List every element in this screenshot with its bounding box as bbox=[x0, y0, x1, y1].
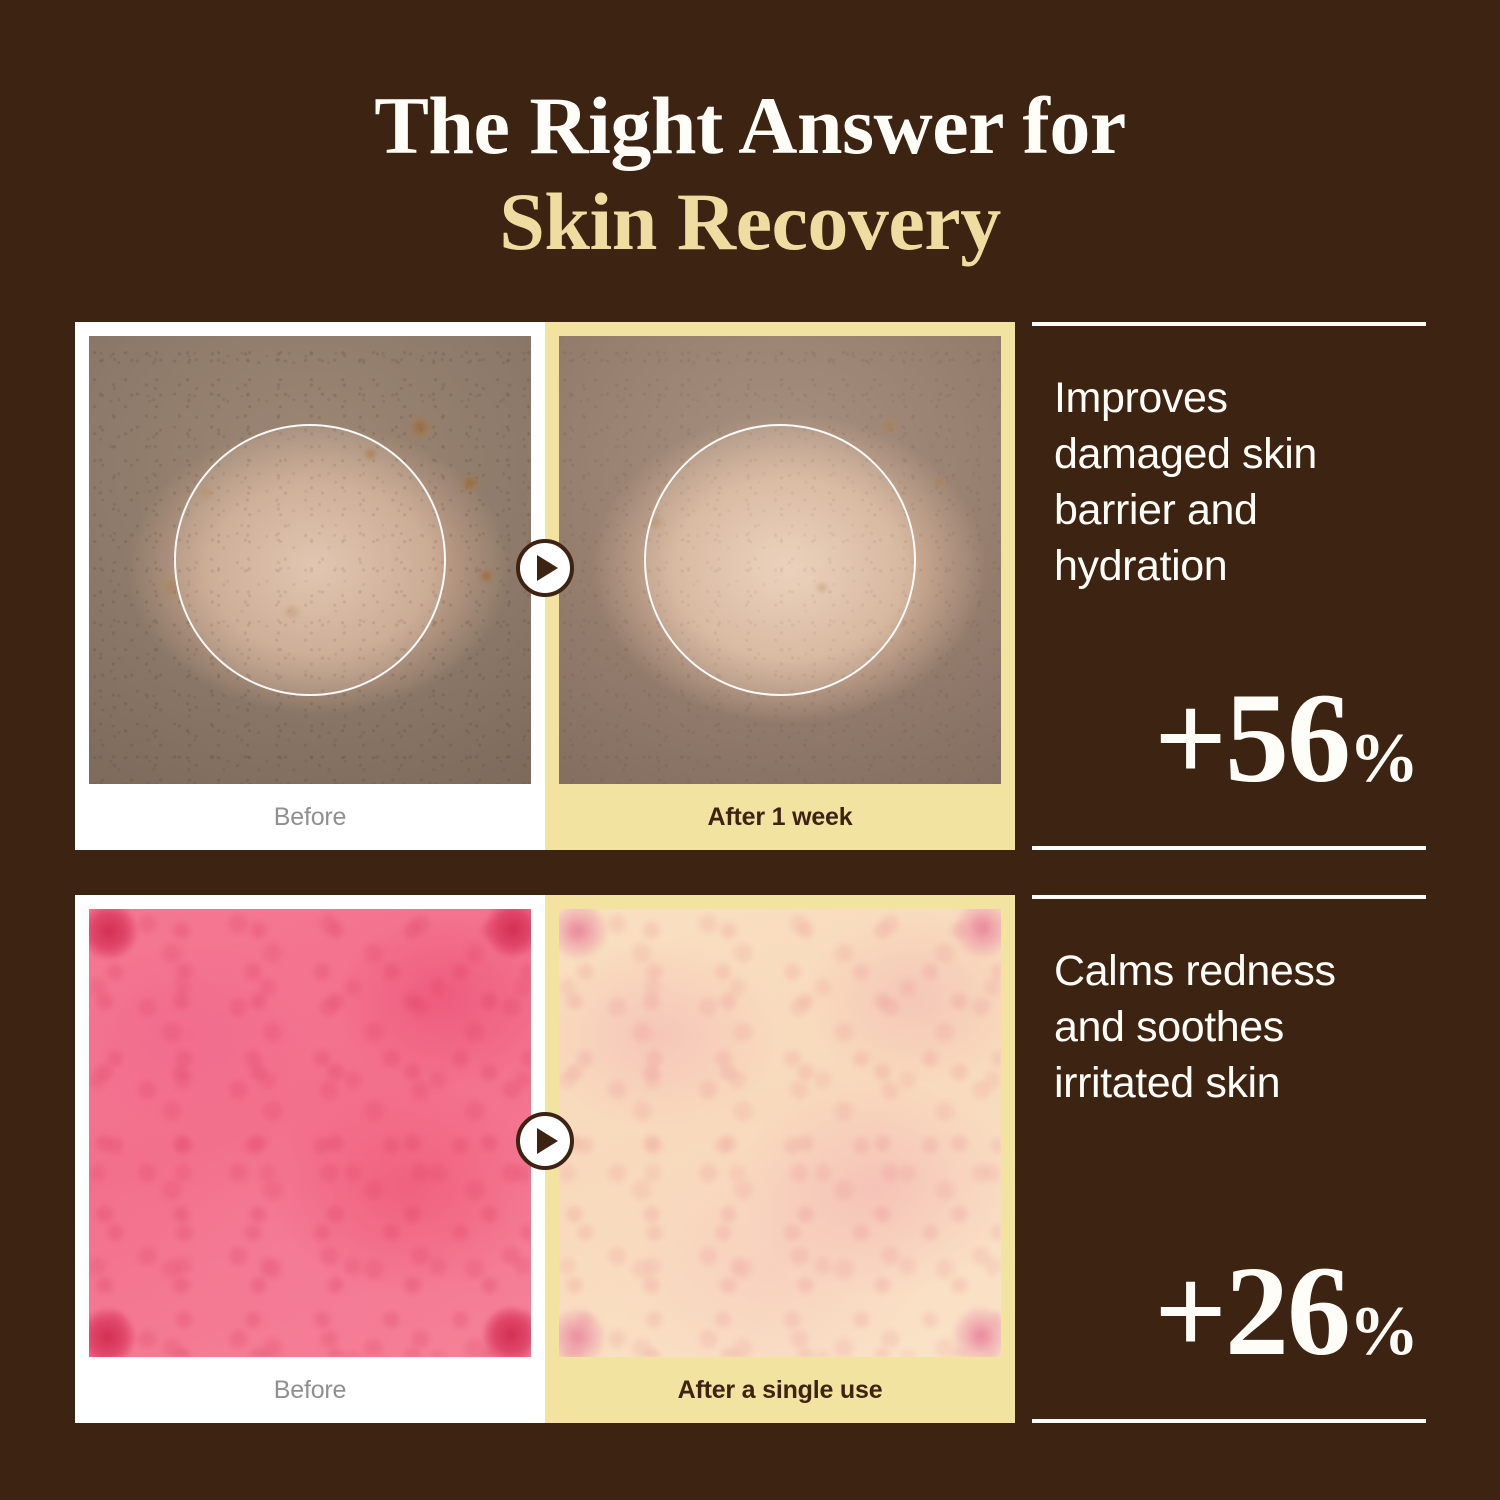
stat-badge: +56% bbox=[1154, 674, 1418, 802]
benefit-text: Improves damaged skin barrier and hydrat… bbox=[1054, 370, 1404, 594]
divider-bottom bbox=[1032, 1419, 1426, 1423]
play-triangle bbox=[537, 1128, 558, 1154]
after-caption: After 1 week bbox=[545, 784, 1015, 850]
skin-photo-after bbox=[559, 336, 1001, 784]
redness-photo-before bbox=[89, 909, 531, 1357]
before-photo bbox=[89, 909, 531, 1357]
spot-layer bbox=[559, 336, 1001, 784]
title-line-accent: Skin Recovery bbox=[0, 174, 1500, 270]
before-caption: Before bbox=[75, 784, 545, 850]
skin-photo-before bbox=[89, 336, 531, 784]
play-triangle bbox=[537, 555, 558, 581]
comparison-row-redness: Before After a single use bbox=[0, 895, 1500, 1423]
before-caption: Before bbox=[75, 1357, 545, 1423]
divider-top bbox=[1032, 895, 1426, 899]
play-arrow-icon bbox=[516, 539, 574, 597]
stat-percent-sign: % bbox=[1349, 1293, 1418, 1370]
after-photo bbox=[559, 909, 1001, 1357]
benefit-info-redness: Calms redness and soothes irritated skin… bbox=[1032, 895, 1426, 1423]
before-panel: Before bbox=[75, 895, 545, 1423]
stat-number: +56 bbox=[1154, 667, 1349, 809]
divider-top bbox=[1032, 322, 1426, 326]
before-photo bbox=[89, 336, 531, 784]
before-panel: Before bbox=[75, 322, 545, 850]
after-panel: After a single use bbox=[545, 895, 1015, 1423]
stat-badge: +26% bbox=[1154, 1247, 1418, 1375]
redness-photo-after bbox=[559, 909, 1001, 1357]
play-arrow-icon bbox=[516, 1112, 574, 1170]
page-title: The Right Answer for Skin Recovery bbox=[0, 78, 1500, 270]
after-panel: After 1 week bbox=[545, 322, 1015, 850]
title-line-primary: The Right Answer for bbox=[0, 78, 1500, 174]
after-caption: After a single use bbox=[545, 1357, 1015, 1423]
before-after-card: Before bbox=[75, 322, 1015, 850]
stat-number: +26 bbox=[1154, 1240, 1349, 1382]
after-photo bbox=[559, 336, 1001, 784]
spot-layer bbox=[89, 336, 531, 784]
comparison-row-hydration: Before bbox=[0, 322, 1500, 850]
benefit-info-hydration: Improves damaged skin barrier and hydrat… bbox=[1032, 322, 1426, 850]
benefit-text: Calms redness and soothes irritated skin bbox=[1054, 943, 1404, 1111]
before-after-card: Before After a single use bbox=[75, 895, 1015, 1423]
divider-bottom bbox=[1032, 846, 1426, 850]
stat-percent-sign: % bbox=[1349, 720, 1418, 797]
redness-mottle bbox=[559, 909, 1001, 1357]
redness-mottle bbox=[89, 909, 531, 1357]
infographic-page: The Right Answer for Skin Recovery bbox=[0, 0, 1500, 1500]
